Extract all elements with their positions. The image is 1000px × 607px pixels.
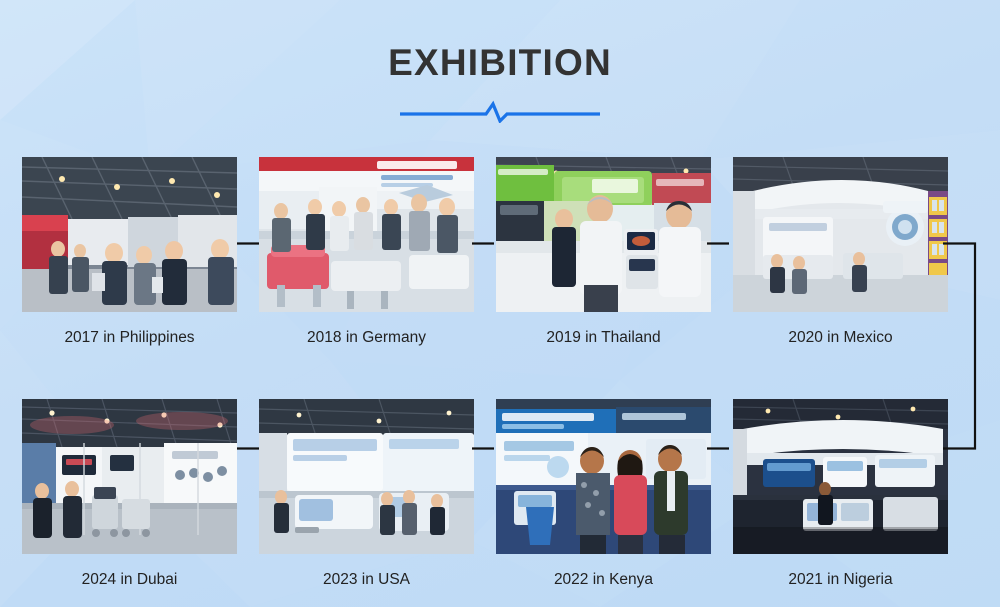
- gallery-row-1: 2017 in Philippines: [22, 157, 943, 346]
- exhibition-card-2020-mexico[interactable]: 2020 in Mexico: [733, 157, 948, 346]
- exhibition-photo-2020-mexico: [733, 157, 948, 312]
- exhibition-photo-2021-nigeria: [733, 399, 948, 554]
- exhibition-photo-2019-thailand: [496, 157, 711, 312]
- exhibition-photo-2022-kenya: [496, 399, 711, 554]
- exhibition-caption: 2022 in Kenya: [496, 571, 711, 588]
- exhibition-photo-2023-usa: [259, 399, 474, 554]
- exhibition-photo-2024-dubai: [22, 399, 237, 554]
- gallery-row-2: 2024 in Dubai: [22, 399, 943, 588]
- exhibition-photo-2017-philippines: [22, 157, 237, 312]
- header: EXHIBITION: [0, 0, 1000, 157]
- exhibition-caption: 2024 in Dubai: [22, 571, 237, 588]
- exhibition-card-2024-dubai[interactable]: 2024 in Dubai: [22, 399, 237, 588]
- exhibition-caption: 2018 in Germany: [259, 329, 474, 346]
- exhibition-card-2017-philippines[interactable]: 2017 in Philippines: [22, 157, 237, 346]
- exhibition-card-2022-kenya[interactable]: 2022 in Kenya: [496, 399, 711, 588]
- heartbeat-divider-icon: [400, 99, 600, 123]
- exhibition-caption: 2017 in Philippines: [22, 329, 237, 346]
- exhibition-caption: 2020 in Mexico: [733, 329, 948, 346]
- exhibition-caption: 2023 in USA: [259, 571, 474, 588]
- exhibition-card-2019-thailand[interactable]: 2019 in Thailand: [496, 157, 711, 346]
- page-title: EXHIBITION: [388, 44, 612, 81]
- exhibition-caption: 2019 in Thailand: [496, 329, 711, 346]
- exhibition-caption: 2021 in Nigeria: [733, 571, 948, 588]
- exhibition-gallery: 2017 in Philippines: [22, 157, 943, 588]
- exhibition-card-2023-usa[interactable]: 2023 in USA: [259, 399, 474, 588]
- exhibition-card-2021-nigeria[interactable]: 2021 in Nigeria: [733, 399, 948, 588]
- exhibition-card-2018-germany[interactable]: 2018 in Germany: [259, 157, 474, 346]
- exhibition-photo-2018-germany: [259, 157, 474, 312]
